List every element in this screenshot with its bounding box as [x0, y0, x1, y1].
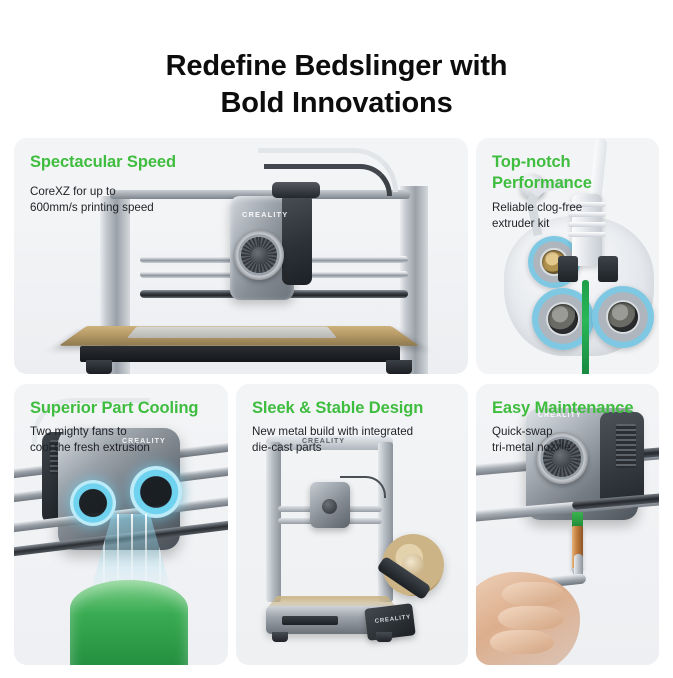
- feature-card-top-notch-performance[interactable]: Top-notch Performance Reliable clog-free…: [476, 138, 659, 374]
- clamp-right: [598, 256, 618, 282]
- green-filament: [582, 280, 589, 374]
- card-title: Superior Part Cooling: [30, 398, 198, 419]
- card-title: Sleek & Stable Design: [252, 398, 423, 419]
- card-title: Easy Maintenance: [492, 398, 633, 419]
- card-subtitle: CoreXZ for up to 600mm/s printing speed: [30, 184, 154, 216]
- card-subtitle: Two mighty fans to cool the fresh extrus…: [30, 424, 150, 456]
- hand: [476, 572, 580, 665]
- feature-card-spectacular-speed[interactable]: CREALITY Spectacular Speed CoreXZ for up…: [14, 138, 468, 374]
- creality-logo: CREALITY: [242, 210, 288, 219]
- printhead-electronics: [282, 193, 312, 285]
- printer-foot-right: [376, 632, 392, 642]
- feature-card-easy-maintenance[interactable]: CREALITY Easy Maintenance Quick-swap tri…: [476, 384, 659, 665]
- printhead-cap: [272, 182, 320, 198]
- cooling-fan-ring-left: [70, 480, 116, 526]
- card-title: Top-notch Performance: [492, 152, 592, 194]
- marketing-feature-grid: Redefine Bedslinger with Bold Innovation…: [0, 0, 673, 678]
- printhead: [310, 482, 350, 528]
- screen-label: CREALITY: [375, 614, 412, 624]
- feature-card-superior-part-cooling[interactable]: CREALITY Superior Part Cooling Two might…: [14, 384, 228, 665]
- cooling-fan-ring-right: [130, 466, 182, 518]
- bed-frame: [80, 346, 400, 362]
- printer-foot-left: [272, 632, 288, 642]
- green-printed-part: [70, 580, 188, 665]
- build-plate-inner: [127, 327, 337, 338]
- printhead-fan-icon: [234, 230, 284, 280]
- base-vent-strip: [282, 616, 338, 625]
- card-subtitle: New metal build with integrated die-cast…: [252, 424, 413, 456]
- printer-gantry-illustration: CREALITY: [14, 138, 468, 374]
- drive-gear-right: [592, 286, 654, 348]
- printer-foot-left: [86, 360, 112, 374]
- headline-line-1: Redefine Bedslinger with: [0, 48, 673, 85]
- vent-grill: [616, 424, 636, 468]
- printer-foot-right: [386, 360, 412, 374]
- frame-post-right: [400, 186, 428, 374]
- clamp-left: [558, 256, 578, 282]
- page-title: Redefine Bedslinger with Bold Innovation…: [0, 48, 673, 121]
- card-subtitle: Reliable clog-free extruder kit: [492, 200, 582, 232]
- headline-line-2: Bold Innovations: [0, 85, 673, 122]
- card-title: Spectacular Speed: [30, 152, 176, 173]
- feature-card-sleek-stable-design[interactable]: CREALITY CREALITY Sleek & Stable Design …: [236, 384, 468, 665]
